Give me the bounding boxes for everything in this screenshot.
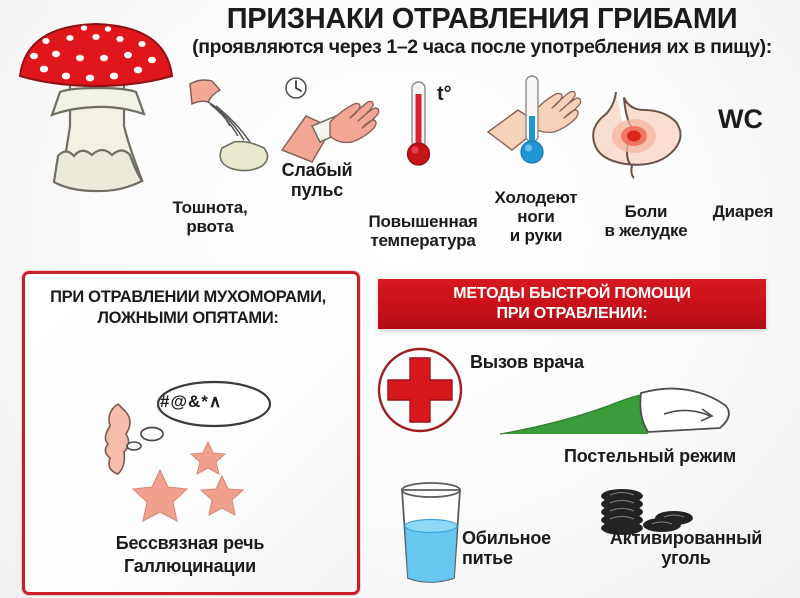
fly-agaric-mushroom-icon: [8, 14, 184, 198]
pulse-wrist-clock-icon: [280, 76, 380, 166]
amanita-panel-heading: ПРИ ОТРАВЛЕНИИ МУХОМОРАМИ, ЛОЖНЫМИ ОПЯТА…: [26, 287, 350, 328]
cold-thermometer-hand-icon: [488, 74, 598, 174]
thermometer-degree-mark: t°: [437, 83, 452, 105]
symptom-label-nausea: Тошнота, рвота: [150, 198, 270, 236]
stomach-pain-icon: [586, 88, 696, 180]
water-glass-icon: [392, 482, 472, 590]
page-subtitle: (проявляются через 1–2 часа после употре…: [168, 36, 796, 59]
hot-thermometer-icon: t°: [400, 78, 470, 174]
page-title: ПРИЗНАКИ ОТРАВЛЕНИЯ ГРИБАМИ: [168, 4, 796, 34]
speech-bubble-text: #@&*∧: [160, 392, 222, 412]
hallucination-caption: Бессвязная речь Галлюцинации: [40, 532, 340, 579]
symptom-label-stomach-pain: Боли в желудке: [592, 202, 700, 240]
poster-root: ПРИЗНАКИ ОТРАВЛЕНИЯ ГРИБАМИ (проявляются…: [0, 0, 800, 598]
symptom-label-fever: Повышенная температура: [348, 212, 498, 250]
first-aid-label-doctor-call: Вызов врача: [470, 352, 640, 372]
first-aid-label-drinking: Обильное питье: [462, 528, 582, 568]
first-aid-label-bed-rest: Постельный режим: [540, 446, 760, 466]
first-aid-banner-text: МЕТОДЫ БЫСТРОЙ ПОМОЩИ ПРИ ОТРАВЛЕНИИ:: [378, 284, 766, 325]
symptom-label-cold-limbs: Холодеют ноги и руки: [478, 188, 594, 245]
bed-rest-icon: [498, 386, 738, 442]
symptom-label-weak-pulse: Слабый пульс: [262, 160, 372, 200]
symptom-label-diarrhea: Диарея: [690, 202, 796, 221]
first-aid-label-charcoal: Активированный уголь: [586, 528, 786, 568]
red-cross-icon: [376, 346, 464, 434]
wc-icon: WC: [718, 104, 763, 135]
